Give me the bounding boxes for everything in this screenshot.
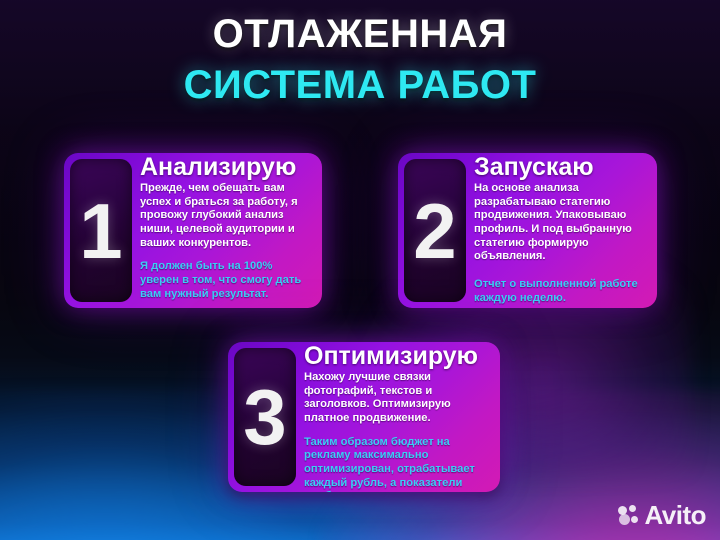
step-card-1: 1 Анализирую Прежде, чем обещать вам усп… — [64, 153, 322, 308]
avito-watermark: Avito — [618, 502, 706, 528]
step-card-2-number-panel: 2 — [404, 159, 466, 302]
step-card-2-inner: 2 Запускаю На основе анализа разрабатыва… — [398, 153, 657, 308]
step-card-3-inner: 3 Оптимизирую Нахожу лучшие связки фотог… — [228, 342, 500, 492]
avito-wordmark: Avito — [644, 502, 706, 528]
step-card-3-paragraph-primary: Нахожу лучшие связки фотографий, текстов… — [304, 371, 492, 426]
headline-line-2: СИСТЕМА РАБОТ — [0, 63, 720, 108]
step-card-2-paragraph-accent: Отчет о выполненной работе каждую неделю… — [474, 278, 649, 305]
step-card-1-paragraph-primary: Прежде, чем обещать вам успех и браться … — [140, 182, 314, 250]
step-card-2-body: Запускаю На основе анализа разрабатываю … — [466, 153, 657, 308]
avito-logo-icon — [618, 505, 640, 525]
step-card-3-paragraph-accent: Таким образом бюджет на рекламу максимал… — [304, 436, 492, 492]
step-card-1-number-panel: 1 — [70, 159, 132, 302]
step-card-3-title: Оптимизирую — [304, 344, 492, 369]
step-card-1-inner: 1 Анализирую Прежде, чем обещать вам усп… — [64, 153, 322, 308]
step-card-3-body: Оптимизирую Нахожу лучшие связки фотогра… — [296, 342, 500, 492]
step-card-1-number: 1 — [79, 192, 122, 270]
step-card-3: 3 Оптимизирую Нахожу лучшие связки фотог… — [228, 342, 500, 492]
headline-line-1: ОТЛАЖЕННАЯ — [0, 12, 720, 57]
step-card-1-body: Анализирую Прежде, чем обещать вам успех… — [132, 153, 322, 308]
step-card-1-paragraph-accent: Я должен быть на 100% уверен в том, что … — [140, 260, 314, 301]
step-card-3-number-panel: 3 — [234, 348, 296, 486]
step-card-3-number: 3 — [243, 378, 286, 456]
promo-poster: ОТЛАЖЕННАЯ СИСТЕМА РАБОТ 1 Анализирую Пр… — [0, 0, 720, 540]
step-card-2-number: 2 — [413, 192, 456, 270]
step-card-2-title: Запускаю — [474, 155, 649, 180]
step-card-2: 2 Запускаю На основе анализа разрабатыва… — [398, 153, 657, 308]
page-title: ОТЛАЖЕННАЯ СИСТЕМА РАБОТ — [0, 12, 720, 108]
step-card-1-title: Анализирую — [140, 155, 314, 180]
step-card-2-paragraph-primary: На основе анализа разрабатываю статегию … — [474, 182, 649, 264]
